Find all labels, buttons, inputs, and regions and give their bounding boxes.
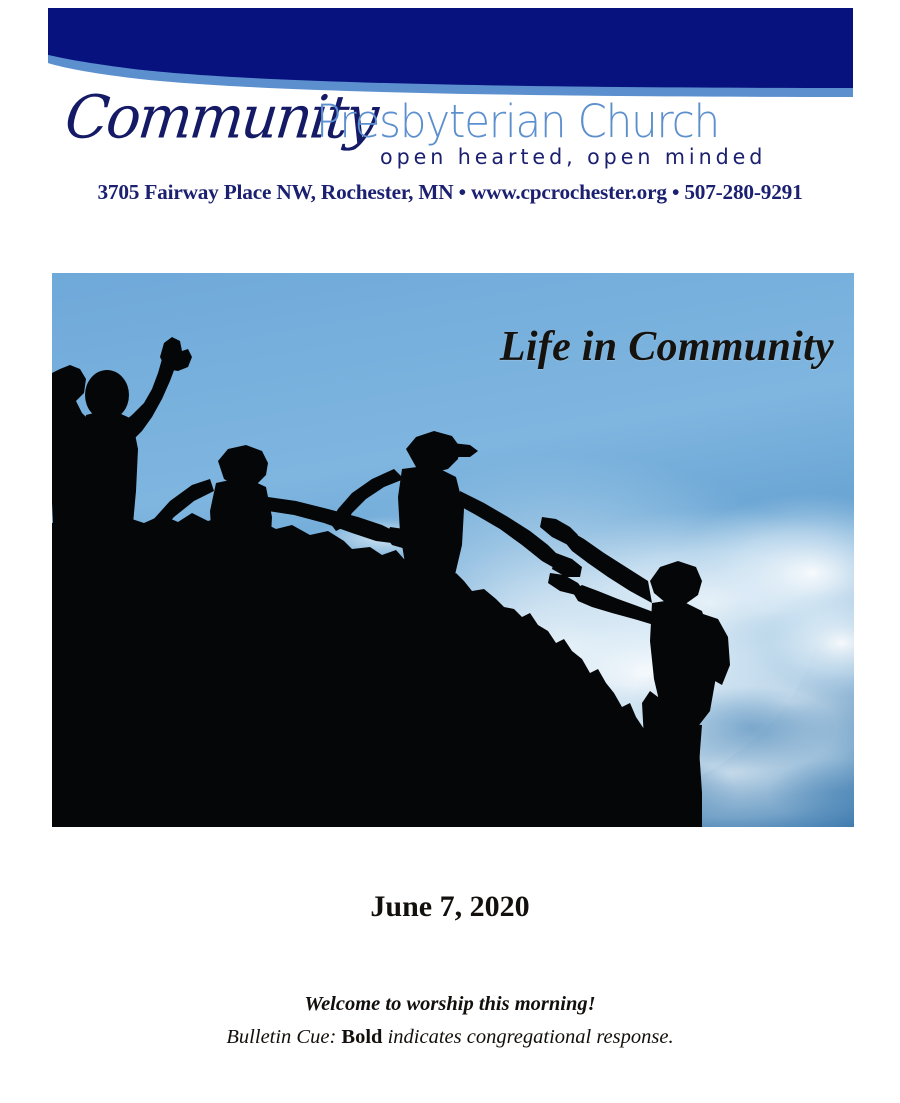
welcome-message: Welcome to worship this morning! (0, 988, 900, 1021)
church-logo: Community Presbyterian Church open heart… (0, 92, 900, 182)
logo-denomination-word: Presbyterian Church (316, 95, 719, 148)
bulletin-cue-bold-word: Bold (341, 1026, 382, 1048)
bulletin-cue-line: Bulletin Cue: Bold indicates congregatio… (0, 1021, 900, 1054)
cover-title: Life in Community (500, 323, 834, 371)
bulletin-cue-tail: indicates congregational response. (382, 1026, 673, 1048)
church-address-line: 3705 Fairway Place NW, Rochester, MN • w… (5, 180, 896, 205)
header-banner: Community Presbyterian Church open heart… (0, 0, 900, 230)
cover-photo: Life in Community (52, 273, 854, 827)
bulletin-cue-label: Bulletin Cue: (226, 1026, 341, 1048)
logo-wordmark: Community Presbyterian Church open heart… (62, 92, 852, 154)
logo-tagline: open hearted, open minded (380, 145, 766, 170)
bulletin-date: June 7, 2020 (0, 890, 900, 924)
welcome-block: Welcome to worship this morning! Bulleti… (0, 988, 900, 1054)
